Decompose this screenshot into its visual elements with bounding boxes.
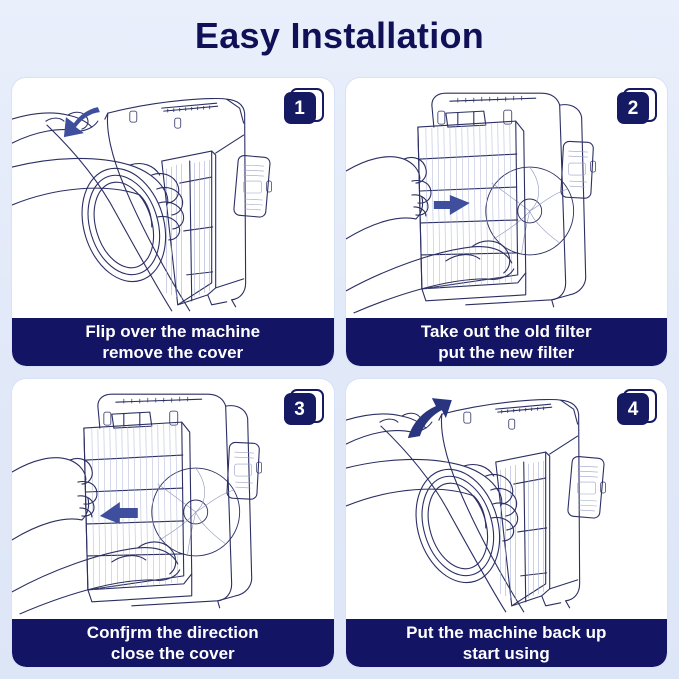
direction-arrow-icon-4: [407, 398, 451, 438]
step-card-3: 3 Confjrm the direction close the cover: [12, 379, 334, 667]
direction-arrow-icon-1: [64, 107, 100, 137]
step-caption-4: Put the machine back up start using: [346, 619, 668, 667]
step-caption-1: Flip over the machine remove the cover: [12, 318, 334, 366]
badge-number: 4: [617, 393, 649, 425]
installation-infographic: Easy Installation: [0, 0, 679, 679]
steps-grid: 1 Flip over the machine remove the cover: [12, 78, 667, 667]
caption-line-1: Confjrm the direction: [87, 622, 259, 643]
caption-line-2: remove the cover: [102, 342, 243, 363]
step-badge-4: 4: [617, 393, 651, 427]
step-caption-2: Take out the old filter put the new filt…: [346, 318, 668, 366]
caption-line-2: put the new filter: [438, 342, 574, 363]
caption-line-2: close the cover: [111, 643, 235, 664]
step-badge-3: 3: [284, 393, 318, 427]
step-card-2: 2 Take out the old filter put the new fi…: [346, 78, 668, 366]
step-badge-2: 2: [617, 92, 651, 126]
direction-arrow-icon-3: [100, 502, 138, 524]
badge-number: 2: [617, 92, 649, 124]
caption-line-2: start using: [463, 643, 550, 664]
caption-line-1: Flip over the machine: [85, 321, 260, 342]
page-title: Easy Installation: [0, 14, 679, 58]
step-caption-3: Confjrm the direction close the cover: [12, 619, 334, 667]
badge-number: 1: [284, 92, 316, 124]
direction-arrow-icon-2: [433, 195, 469, 215]
badge-number: 3: [284, 393, 316, 425]
step-card-1: 1 Flip over the machine remove the cover: [12, 78, 334, 366]
step-badge-1: 1: [284, 92, 318, 126]
caption-line-1: Put the machine back up: [406, 622, 606, 643]
step-card-4: 4 Put the machine back up start using: [346, 379, 668, 667]
caption-line-1: Take out the old filter: [421, 321, 592, 342]
